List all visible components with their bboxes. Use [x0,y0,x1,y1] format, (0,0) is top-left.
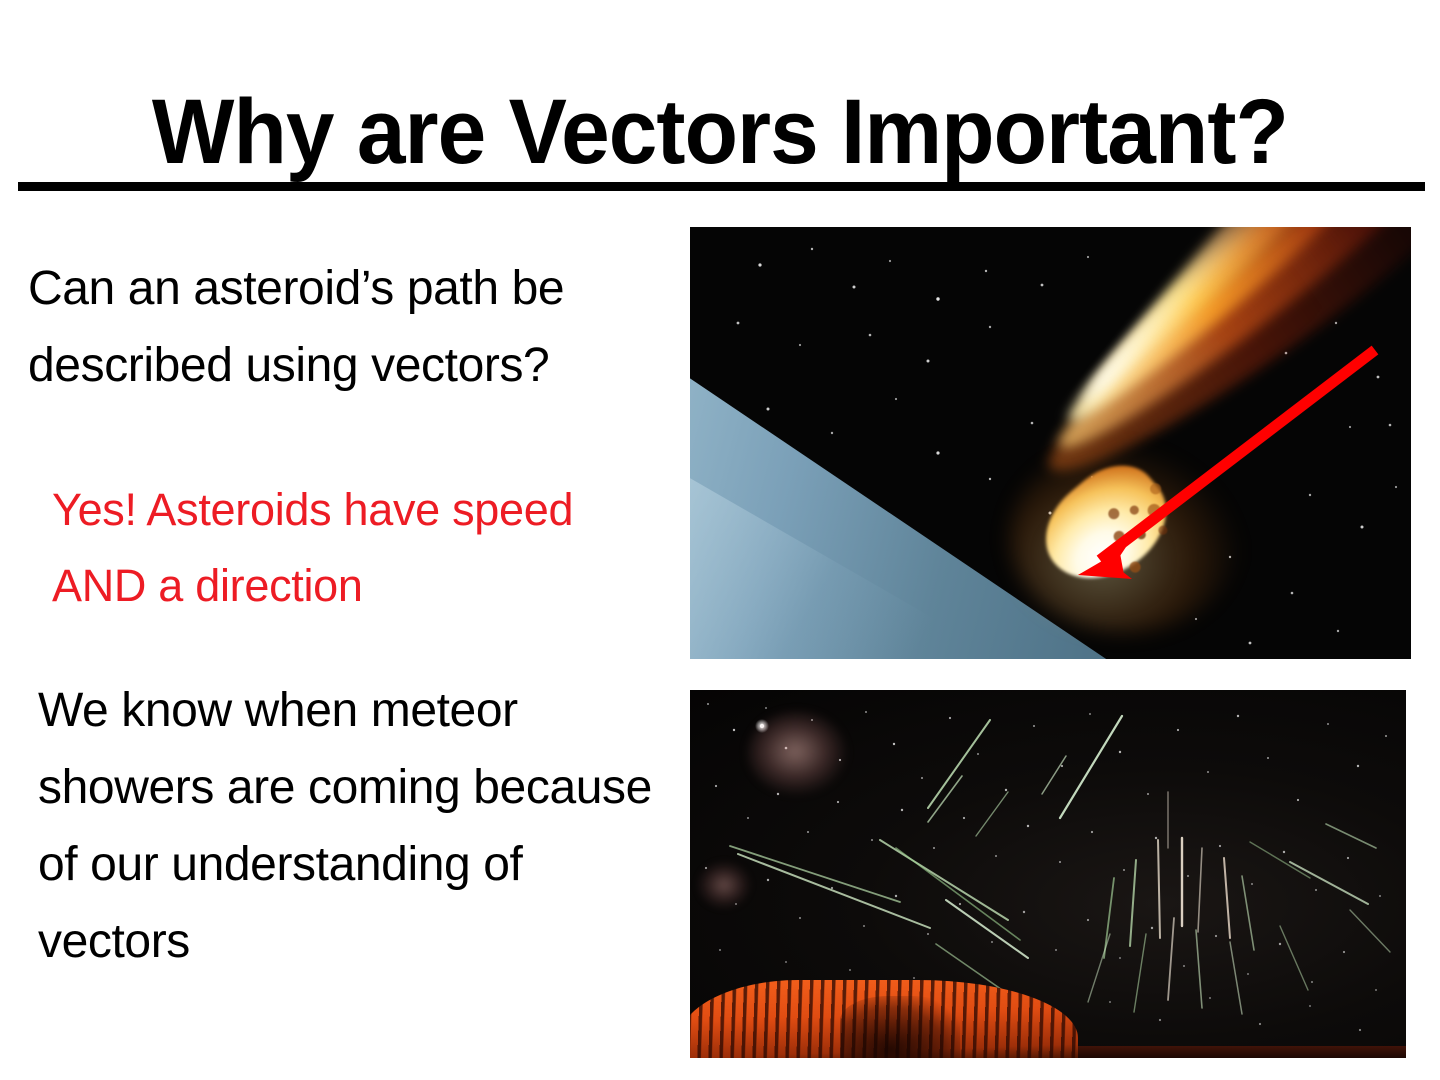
meteor-shower-image [690,690,1406,1058]
page-title: Why are Vectors Important? [152,82,1288,182]
slide-canvas: Why are Vectors Important? Can an astero… [0,0,1440,1080]
nebula-cloud-lower [698,862,750,908]
answer-paragraph: Yes! Asteroids have speed AND a directio… [52,472,672,624]
slide-title-block: Why are Vectors Important? [0,82,1440,182]
meteor-paragraph: We know when meteor showers are coming b… [38,672,678,980]
uluru-shadow [840,996,960,1058]
title-underline-rule [18,182,1425,191]
asteroid-image [690,227,1411,659]
question-paragraph: Can an asteroid’s path be described usin… [28,250,688,404]
text-column: Can an asteroid’s path be described usin… [0,228,690,1068]
nebula-cloud-upper [748,712,846,794]
comet-tail [990,227,1411,647]
